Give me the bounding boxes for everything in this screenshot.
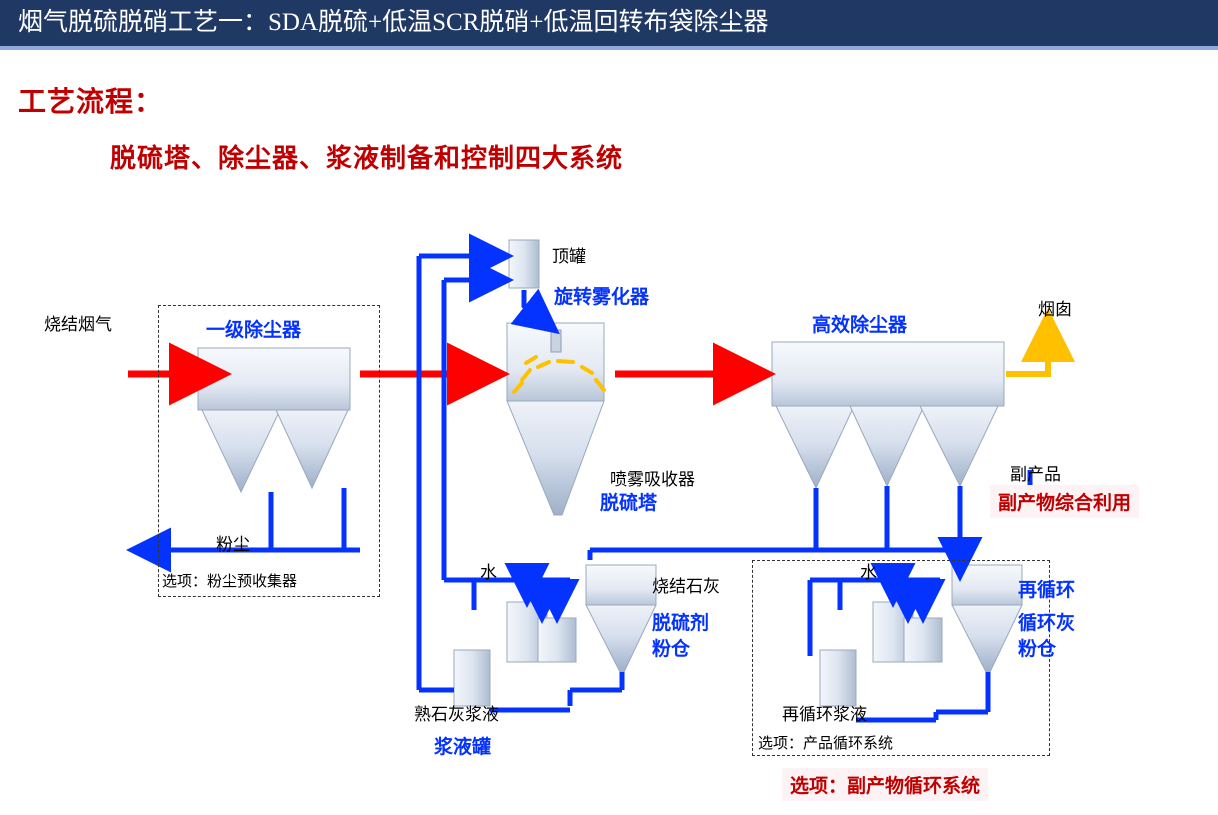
label-desulfurizer-silo-line1: 脱硫剂 — [652, 608, 709, 635]
label-burnt-lime: 烧结石灰 — [652, 572, 720, 597]
group-box-pre-collector — [158, 305, 380, 597]
label-stack: 烟囱 — [1038, 295, 1072, 320]
label-top-tank: 顶罐 — [552, 242, 586, 267]
label-high-eff-collector: 高效除尘器 — [812, 310, 907, 337]
stack-arrow — [1006, 320, 1048, 374]
burnt-lime-silo-shape — [586, 565, 656, 672]
high-efficiency-dust-collector-shape — [772, 342, 1004, 488]
label-inlet-gas: 烧结烟气 — [44, 310, 112, 335]
label-byproduct: 副产品 — [1010, 460, 1061, 485]
label-spray-absorber: 喷雾吸收器 — [610, 465, 695, 490]
process-flow-diagram: 烧结烟气 一级除尘器 粉尘 选项：粉尘预收集器 顶罐 旋转雾化器 喷雾吸收器 脱… — [30, 220, 1190, 780]
label-desulfur-tower: 脱硫塔 — [600, 488, 657, 515]
page-title: 烟气脱硫脱硝工艺一：SDA脱硫+低温SCR脱硝+低温回转布袋除尘器 — [18, 6, 768, 40]
top-tank-shape — [509, 240, 539, 288]
label-lime-slurry: 熟石灰浆液 — [414, 700, 499, 725]
label-desulfurizer-silo-line2: 粉仓 — [652, 634, 690, 661]
label-rotary-atomizer: 旋转雾化器 — [554, 282, 649, 309]
group-box-product-recycle — [752, 560, 1050, 756]
header-underline — [0, 46, 1218, 50]
label-slurry-tank: 浆液罐 — [434, 732, 491, 759]
callout-byproduct-use: 副产物综合利用 — [990, 485, 1139, 518]
header-bar: 烟气脱硫脱硝工艺一：SDA脱硫+低温SCR脱硝+低温回转布袋除尘器 — [0, 0, 1218, 46]
desulfurization-tower-shape — [507, 323, 604, 515]
label-water-left: 水 — [480, 558, 497, 583]
section-heading: 工艺流程： — [18, 80, 163, 120]
section-subheading: 脱硫塔、除尘器、浆液制备和控制四大系统 — [110, 138, 623, 175]
callout-option-byproduct-recycle: 选项：副产物循环系统 — [782, 768, 988, 801]
lime-slurry-silo-shapes — [454, 602, 576, 706]
